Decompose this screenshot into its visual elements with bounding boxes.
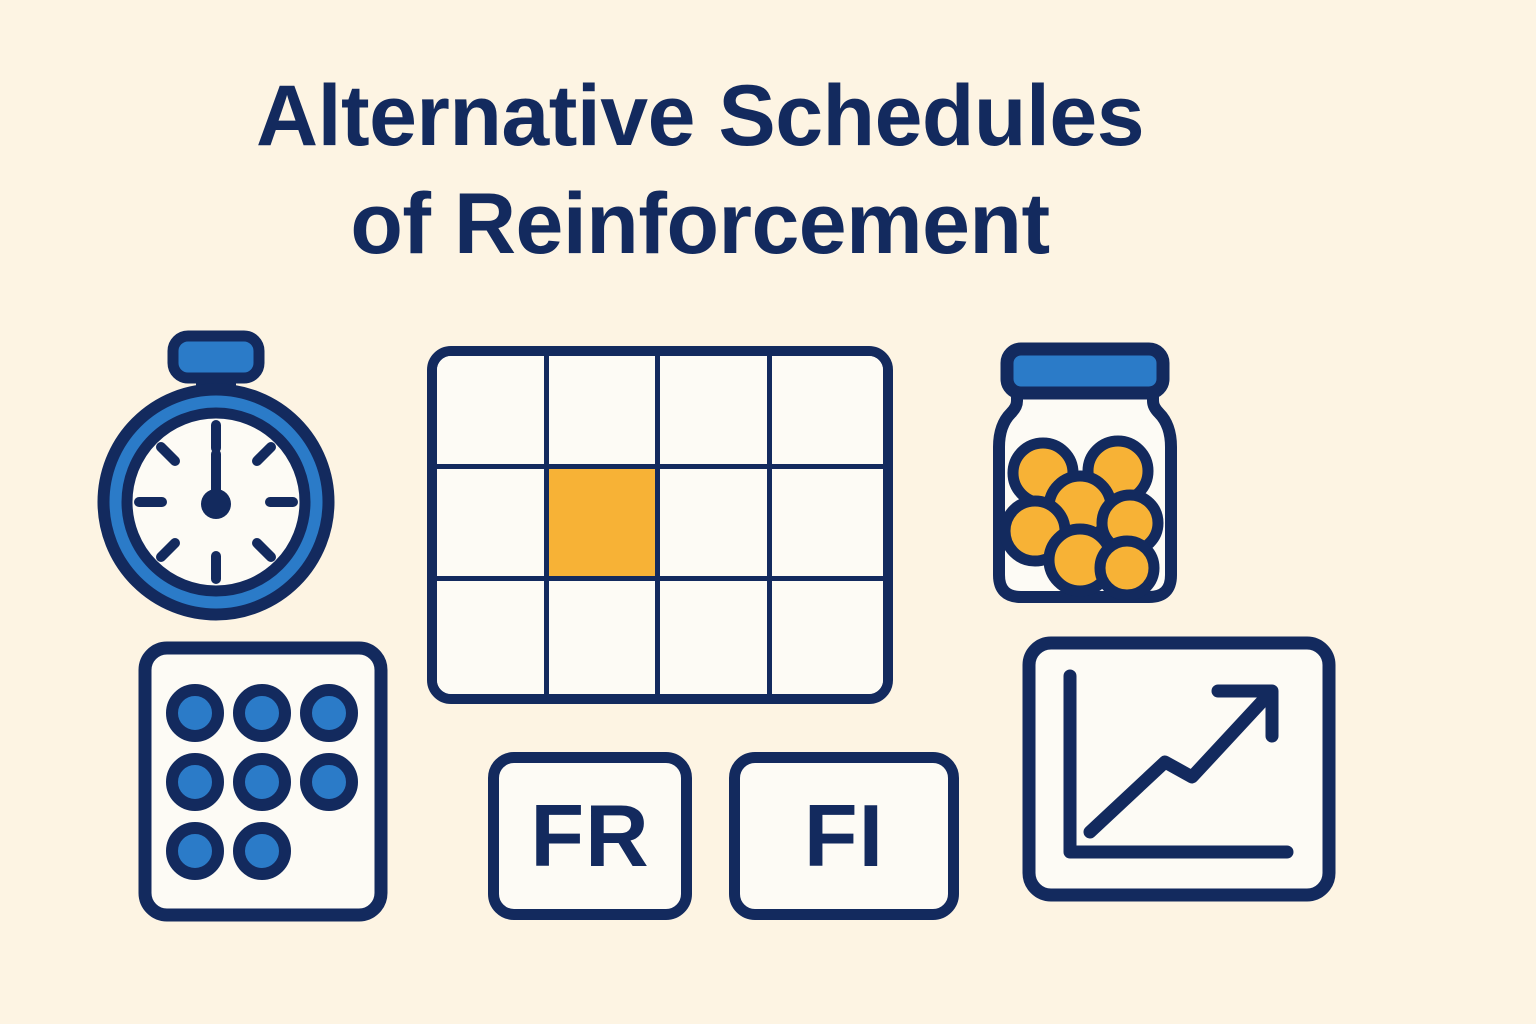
grid-cell — [437, 581, 549, 694]
grid-cell — [660, 469, 772, 582]
badge-fi[interactable]: FI — [729, 752, 959, 920]
page-title: Alternative Schedules of Reinforcement — [0, 62, 1400, 278]
rising-trend-chart-icon — [1022, 636, 1336, 902]
grid-cell — [437, 469, 549, 582]
page-title-line-2: of Reinforcement — [0, 170, 1400, 278]
page-title-line-1: Alternative Schedules — [0, 62, 1400, 170]
badge-fr-label: FR — [530, 792, 649, 880]
grid-cell — [772, 356, 884, 469]
badge-fr[interactable]: FR — [488, 752, 692, 920]
grid-cell — [660, 356, 772, 469]
badge-fi-label: FI — [804, 792, 884, 880]
stopwatch-icon — [82, 330, 352, 620]
grid-cell — [772, 581, 884, 694]
grid-cell — [772, 469, 884, 582]
schedule-grid-icon — [427, 346, 893, 704]
grid-cell — [549, 581, 661, 694]
grid-cell — [437, 356, 549, 469]
grid-cell — [660, 581, 772, 694]
poster-canvas: Alternative Schedules of Reinforcement — [0, 0, 1536, 1024]
grid-cell — [549, 356, 661, 469]
grid-cell-highlighted — [549, 469, 661, 582]
reinforcer-jar-icon — [975, 335, 1195, 615]
token-board-icon — [138, 641, 388, 922]
